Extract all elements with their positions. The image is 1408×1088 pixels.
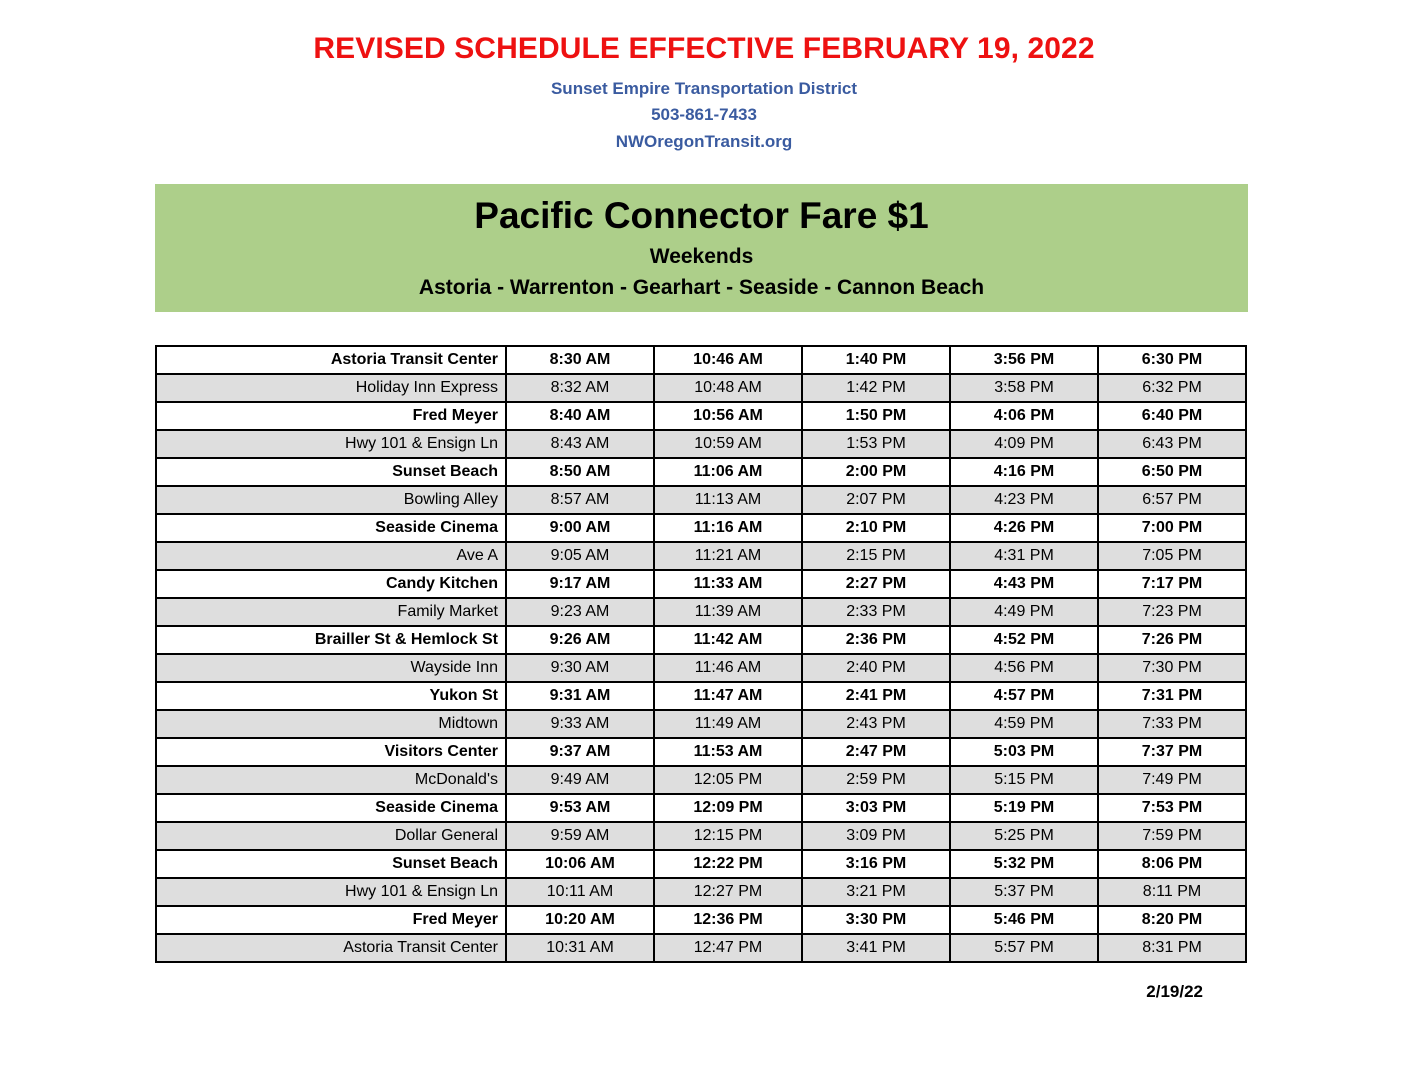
- departure-time-cell: 2:15 PM: [802, 542, 950, 570]
- departure-time-cell: 5:57 PM: [950, 934, 1098, 962]
- departure-time-cell: 2:27 PM: [802, 570, 950, 598]
- departure-time-cell: 12:05 PM: [654, 766, 802, 794]
- departure-time-cell: 11:46 AM: [654, 654, 802, 682]
- departure-time-cell: 6:50 PM: [1098, 458, 1246, 486]
- table-row: Seaside Cinema9:53 AM12:09 PM3:03 PM5:19…: [156, 794, 1246, 822]
- departure-time-cell: 8:11 PM: [1098, 878, 1246, 906]
- departure-time-cell: 9:30 AM: [506, 654, 654, 682]
- departure-time-cell: 8:43 AM: [506, 430, 654, 458]
- departure-time-cell: 1:42 PM: [802, 374, 950, 402]
- departure-time-cell: 9:53 AM: [506, 794, 654, 822]
- agency-website: NWOregonTransit.org: [0, 129, 1408, 155]
- departure-time-cell: 5:19 PM: [950, 794, 1098, 822]
- departure-time-cell: 8:57 AM: [506, 486, 654, 514]
- table-row: Wayside Inn9:30 AM11:46 AM2:40 PM4:56 PM…: [156, 654, 1246, 682]
- departure-time-cell: 6:43 PM: [1098, 430, 1246, 458]
- departure-time-cell: 7:49 PM: [1098, 766, 1246, 794]
- stop-name-cell: Sunset Beach: [156, 850, 506, 878]
- departure-time-cell: 4:57 PM: [950, 682, 1098, 710]
- revised-schedule-notice: REVISED SCHEDULE EFFECTIVE FEBRUARY 19, …: [0, 32, 1408, 65]
- table-row: Hwy 101 & Ensign Ln8:43 AM10:59 AM1:53 P…: [156, 430, 1246, 458]
- stop-name-cell: Wayside Inn: [156, 654, 506, 682]
- stop-name-cell: Visitors Center: [156, 738, 506, 766]
- departure-time-cell: 7:37 PM: [1098, 738, 1246, 766]
- departure-time-cell: 8:31 PM: [1098, 934, 1246, 962]
- departure-time-cell: 11:33 AM: [654, 570, 802, 598]
- table-row: Fred Meyer8:40 AM10:56 AM1:50 PM4:06 PM6…: [156, 402, 1246, 430]
- table-row: Sunset Beach10:06 AM12:22 PM3:16 PM5:32 …: [156, 850, 1246, 878]
- departure-time-cell: 5:37 PM: [950, 878, 1098, 906]
- departure-time-cell: 10:31 AM: [506, 934, 654, 962]
- departure-time-cell: 9:23 AM: [506, 598, 654, 626]
- departure-time-cell: 11:39 AM: [654, 598, 802, 626]
- stop-name-cell: Seaside Cinema: [156, 794, 506, 822]
- stop-name-cell: Holiday Inn Express: [156, 374, 506, 402]
- departure-time-cell: 7:33 PM: [1098, 710, 1246, 738]
- departure-time-cell: 7:59 PM: [1098, 822, 1246, 850]
- departure-time-cell: 9:00 AM: [506, 514, 654, 542]
- table-row: Visitors Center9:37 AM11:53 AM2:47 PM5:0…: [156, 738, 1246, 766]
- departure-time-cell: 4:23 PM: [950, 486, 1098, 514]
- departure-time-cell: 8:20 PM: [1098, 906, 1246, 934]
- stop-name-cell: McDonald's: [156, 766, 506, 794]
- route-banner: Pacific Connector Fare $1 Weekends Astor…: [155, 184, 1248, 312]
- departure-time-cell: 10:46 AM: [654, 346, 802, 374]
- departure-time-cell: 10:48 AM: [654, 374, 802, 402]
- table-row: Yukon St9:31 AM11:47 AM2:41 PM4:57 PM7:3…: [156, 682, 1246, 710]
- stop-name-cell: Family Market: [156, 598, 506, 626]
- departure-time-cell: 9:59 AM: [506, 822, 654, 850]
- departure-time-cell: 2:43 PM: [802, 710, 950, 738]
- table-row: Hwy 101 & Ensign Ln10:11 AM12:27 PM3:21 …: [156, 878, 1246, 906]
- departure-time-cell: 2:36 PM: [802, 626, 950, 654]
- stop-name-cell: Seaside Cinema: [156, 514, 506, 542]
- agency-phone: 503-861-7433: [0, 102, 1408, 128]
- departure-time-cell: 1:40 PM: [802, 346, 950, 374]
- departure-time-cell: 9:31 AM: [506, 682, 654, 710]
- departure-time-cell: 3:16 PM: [802, 850, 950, 878]
- table-row: Seaside Cinema9:00 AM11:16 AM2:10 PM4:26…: [156, 514, 1246, 542]
- stop-name-cell: Dollar General: [156, 822, 506, 850]
- departure-time-cell: 9:17 AM: [506, 570, 654, 598]
- schedule-table-container: Astoria Transit Center8:30 AM10:46 AM1:4…: [155, 345, 1245, 963]
- departure-time-cell: 7:00 PM: [1098, 514, 1246, 542]
- departure-time-cell: 6:30 PM: [1098, 346, 1246, 374]
- departure-time-cell: 11:42 AM: [654, 626, 802, 654]
- departure-time-cell: 4:09 PM: [950, 430, 1098, 458]
- departure-time-cell: 9:05 AM: [506, 542, 654, 570]
- departure-time-cell: 12:22 PM: [654, 850, 802, 878]
- departure-time-cell: 3:09 PM: [802, 822, 950, 850]
- departure-time-cell: 4:52 PM: [950, 626, 1098, 654]
- departure-time-cell: 4:16 PM: [950, 458, 1098, 486]
- stop-name-cell: Astoria Transit Center: [156, 934, 506, 962]
- table-row: Holiday Inn Express8:32 AM10:48 AM1:42 P…: [156, 374, 1246, 402]
- departure-time-cell: 2:10 PM: [802, 514, 950, 542]
- departure-time-cell: 3:30 PM: [802, 906, 950, 934]
- revision-date: 2/19/22: [155, 982, 1245, 1002]
- departure-time-cell: 5:15 PM: [950, 766, 1098, 794]
- stop-name-cell: Fred Meyer: [156, 402, 506, 430]
- stop-name-cell: Astoria Transit Center: [156, 346, 506, 374]
- departure-time-cell: 11:06 AM: [654, 458, 802, 486]
- departure-time-cell: 10:56 AM: [654, 402, 802, 430]
- departure-time-cell: 4:49 PM: [950, 598, 1098, 626]
- departure-time-cell: 1:53 PM: [802, 430, 950, 458]
- departure-time-cell: 10:11 AM: [506, 878, 654, 906]
- table-row: Candy Kitchen9:17 AM11:33 AM2:27 PM4:43 …: [156, 570, 1246, 598]
- stop-name-cell: Fred Meyer: [156, 906, 506, 934]
- departure-time-cell: 9:33 AM: [506, 710, 654, 738]
- departure-time-cell: 11:53 AM: [654, 738, 802, 766]
- departure-time-cell: 7:26 PM: [1098, 626, 1246, 654]
- departure-time-cell: 2:07 PM: [802, 486, 950, 514]
- table-row: Fred Meyer10:20 AM12:36 PM3:30 PM5:46 PM…: [156, 906, 1246, 934]
- departure-time-cell: 6:57 PM: [1098, 486, 1246, 514]
- stop-name-cell: Hwy 101 & Ensign Ln: [156, 430, 506, 458]
- stop-name-cell: Sunset Beach: [156, 458, 506, 486]
- route-cities: Astoria - Warrenton - Gearhart - Seaside…: [419, 276, 984, 300]
- departure-time-cell: 11:47 AM: [654, 682, 802, 710]
- departure-time-cell: 4:59 PM: [950, 710, 1098, 738]
- departure-time-cell: 9:26 AM: [506, 626, 654, 654]
- departure-time-cell: 8:50 AM: [506, 458, 654, 486]
- departure-time-cell: 2:41 PM: [802, 682, 950, 710]
- departure-time-cell: 3:21 PM: [802, 878, 950, 906]
- departure-time-cell: 10:59 AM: [654, 430, 802, 458]
- departure-time-cell: 6:32 PM: [1098, 374, 1246, 402]
- document-header: REVISED SCHEDULE EFFECTIVE FEBRUARY 19, …: [0, 0, 1408, 155]
- departure-time-cell: 4:26 PM: [950, 514, 1098, 542]
- table-row: Bowling Alley8:57 AM11:13 AM2:07 PM4:23 …: [156, 486, 1246, 514]
- departure-time-cell: 7:23 PM: [1098, 598, 1246, 626]
- table-row: Midtown9:33 AM11:49 AM2:43 PM4:59 PM7:33…: [156, 710, 1246, 738]
- schedule-table: Astoria Transit Center8:30 AM10:46 AM1:4…: [155, 345, 1247, 963]
- departure-time-cell: 6:40 PM: [1098, 402, 1246, 430]
- departure-time-cell: 8:06 PM: [1098, 850, 1246, 878]
- departure-time-cell: 11:49 AM: [654, 710, 802, 738]
- departure-time-cell: 11:13 AM: [654, 486, 802, 514]
- stop-name-cell: Yukon St: [156, 682, 506, 710]
- departure-time-cell: 2:40 PM: [802, 654, 950, 682]
- departure-time-cell: 12:36 PM: [654, 906, 802, 934]
- departure-time-cell: 12:15 PM: [654, 822, 802, 850]
- departure-time-cell: 5:46 PM: [950, 906, 1098, 934]
- departure-time-cell: 2:59 PM: [802, 766, 950, 794]
- table-row: Brailler St & Hemlock St9:26 AM11:42 AM2…: [156, 626, 1246, 654]
- service-days: Weekends: [650, 245, 754, 269]
- departure-time-cell: 4:56 PM: [950, 654, 1098, 682]
- route-title: Pacific Connector Fare $1: [474, 196, 928, 236]
- stop-name-cell: Bowling Alley: [156, 486, 506, 514]
- table-row: Ave A9:05 AM11:21 AM2:15 PM4:31 PM7:05 P…: [156, 542, 1246, 570]
- departure-time-cell: 3:41 PM: [802, 934, 950, 962]
- departure-time-cell: 3:03 PM: [802, 794, 950, 822]
- table-row: Sunset Beach8:50 AM11:06 AM2:00 PM4:16 P…: [156, 458, 1246, 486]
- departure-time-cell: 4:43 PM: [950, 570, 1098, 598]
- departure-time-cell: 7:31 PM: [1098, 682, 1246, 710]
- table-row: Family Market9:23 AM11:39 AM2:33 PM4:49 …: [156, 598, 1246, 626]
- departure-time-cell: 2:33 PM: [802, 598, 950, 626]
- departure-time-cell: 9:37 AM: [506, 738, 654, 766]
- departure-time-cell: 5:03 PM: [950, 738, 1098, 766]
- departure-time-cell: 12:47 PM: [654, 934, 802, 962]
- agency-name: Sunset Empire Transportation District: [0, 76, 1408, 102]
- stop-name-cell: Ave A: [156, 542, 506, 570]
- table-row: Astoria Transit Center8:30 AM10:46 AM1:4…: [156, 346, 1246, 374]
- departure-time-cell: 11:21 AM: [654, 542, 802, 570]
- departure-time-cell: 2:00 PM: [802, 458, 950, 486]
- departure-time-cell: 12:09 PM: [654, 794, 802, 822]
- departure-time-cell: 7:05 PM: [1098, 542, 1246, 570]
- stop-name-cell: Hwy 101 & Ensign Ln: [156, 878, 506, 906]
- stop-name-cell: Brailler St & Hemlock St: [156, 626, 506, 654]
- table-row: McDonald's9:49 AM12:05 PM2:59 PM5:15 PM7…: [156, 766, 1246, 794]
- departure-time-cell: 1:50 PM: [802, 402, 950, 430]
- departure-time-cell: 10:06 AM: [506, 850, 654, 878]
- departure-time-cell: 7:53 PM: [1098, 794, 1246, 822]
- departure-time-cell: 8:40 AM: [506, 402, 654, 430]
- departure-time-cell: 5:32 PM: [950, 850, 1098, 878]
- departure-time-cell: 4:06 PM: [950, 402, 1098, 430]
- departure-time-cell: 12:27 PM: [654, 878, 802, 906]
- departure-time-cell: 11:16 AM: [654, 514, 802, 542]
- departure-time-cell: 7:30 PM: [1098, 654, 1246, 682]
- table-row: Astoria Transit Center10:31 AM12:47 PM3:…: [156, 934, 1246, 962]
- departure-time-cell: 8:32 AM: [506, 374, 654, 402]
- departure-time-cell: 3:58 PM: [950, 374, 1098, 402]
- departure-time-cell: 9:49 AM: [506, 766, 654, 794]
- departure-time-cell: 2:47 PM: [802, 738, 950, 766]
- departure-time-cell: 4:31 PM: [950, 542, 1098, 570]
- departure-time-cell: 5:25 PM: [950, 822, 1098, 850]
- departure-time-cell: 8:30 AM: [506, 346, 654, 374]
- departure-time-cell: 7:17 PM: [1098, 570, 1246, 598]
- stop-name-cell: Midtown: [156, 710, 506, 738]
- departure-time-cell: 3:56 PM: [950, 346, 1098, 374]
- departure-time-cell: 10:20 AM: [506, 906, 654, 934]
- table-row: Dollar General9:59 AM12:15 PM3:09 PM5:25…: [156, 822, 1246, 850]
- stop-name-cell: Candy Kitchen: [156, 570, 506, 598]
